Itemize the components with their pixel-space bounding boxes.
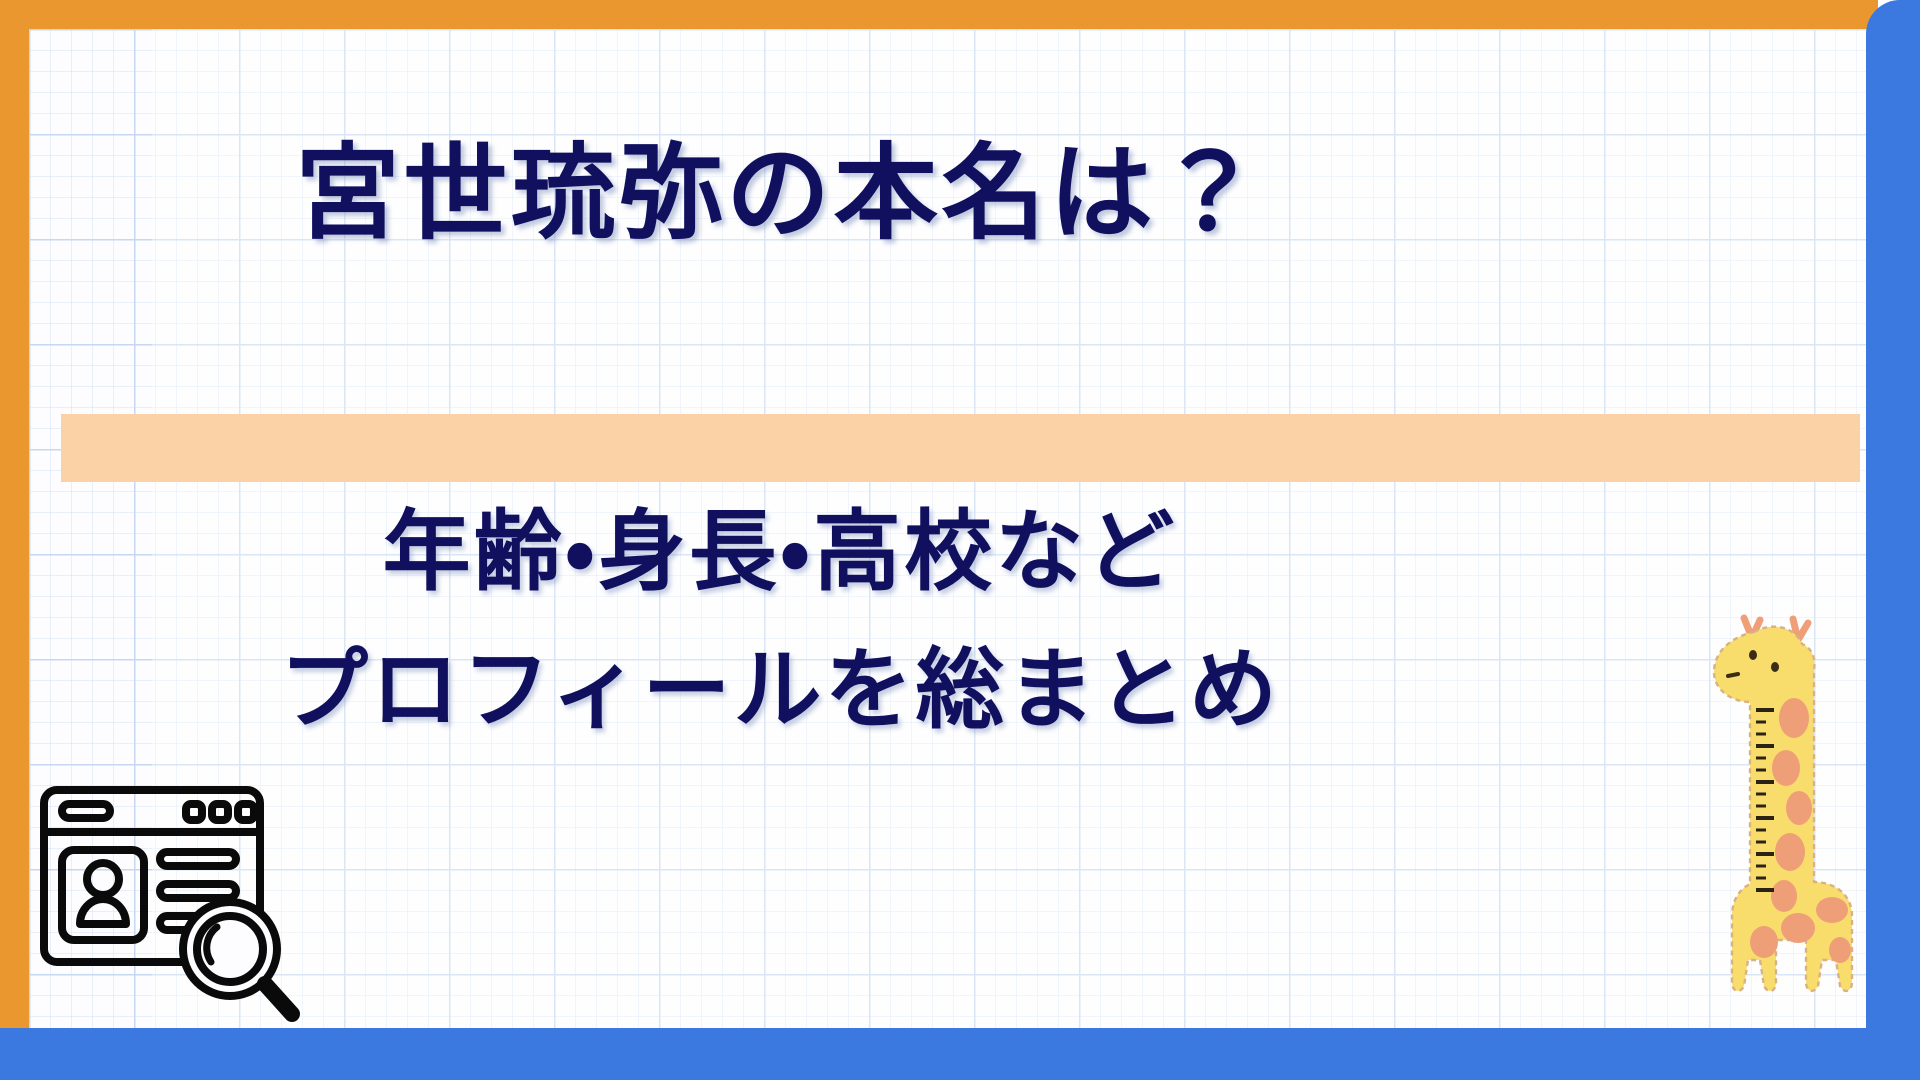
window-dot-1 — [186, 804, 202, 820]
magnifier-handle-icon — [265, 984, 292, 1014]
giraffe-group — [1714, 618, 1852, 991]
giraffe-height-chart-icon — [1694, 610, 1866, 1030]
giraffe-eye-left-icon — [1749, 650, 1757, 660]
avatar-head-icon — [87, 863, 119, 895]
headline-title: 宮世琉弥の本名は？ — [0, 135, 1560, 251]
giraffe-body-shape — [1714, 627, 1852, 991]
avatar-body-icon — [80, 899, 126, 924]
giraffe-spot-2 — [1772, 750, 1800, 786]
profile-id-card-with-magnifier-icon — [30, 776, 310, 1038]
giraffe-spot-9 — [1829, 937, 1851, 963]
giraffe-eye-right-icon — [1771, 662, 1779, 672]
id-card-search-svg — [30, 776, 310, 1038]
giraffe-spot-1 — [1779, 698, 1809, 738]
thumbnail-canvas: 宮世琉弥の本名は？ 年齢・身長・高校など プロフィールを総まとめ — [0, 0, 1920, 1080]
window-dot-3 — [238, 804, 254, 820]
giraffe-spot-5 — [1771, 880, 1797, 912]
giraffe-svg — [1694, 610, 1866, 1030]
window-dot-2 — [212, 804, 228, 820]
giraffe-spot-4 — [1775, 833, 1805, 871]
giraffe-spot-7 — [1816, 897, 1848, 923]
giraffe-spot-6 — [1781, 913, 1815, 943]
browser-address-pill — [62, 804, 110, 818]
card-text-line-1 — [160, 852, 236, 866]
card-text-line-2 — [160, 884, 236, 898]
subheadline-line-1: 年齢・身長・高校など — [0, 502, 1560, 602]
giraffe-nostril-icon — [1728, 674, 1738, 676]
giraffe-spot-8 — [1750, 926, 1778, 958]
giraffe-spot-3 — [1786, 791, 1812, 825]
subheadline-line-2: プロフィールを総まとめ — [0, 640, 1560, 740]
